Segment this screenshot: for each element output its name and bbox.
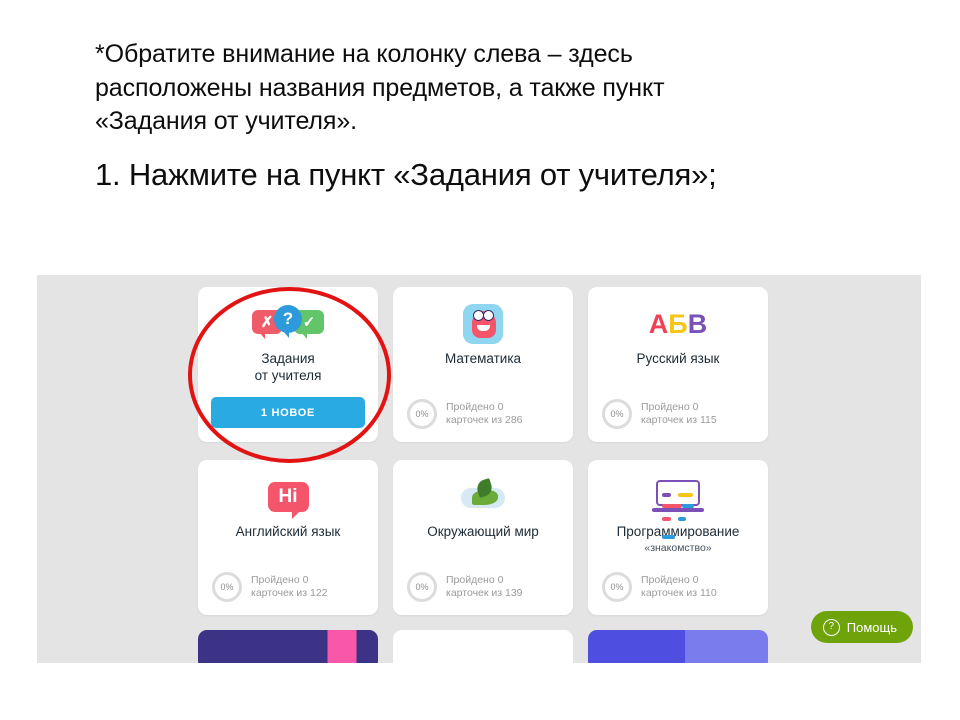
progress-percent: 0% — [610, 409, 623, 419]
card-stub-3[interactable] — [588, 630, 768, 663]
partial-card-row — [198, 630, 768, 663]
bird-cloud-icon — [393, 474, 573, 520]
progress-ring: 0% — [602, 572, 632, 602]
card-title: Окружающий мир — [393, 524, 573, 541]
card-title: Математика — [393, 351, 573, 368]
progress-percent: 0% — [220, 582, 233, 592]
progress-text: Пройдено 0 карточек из 286 — [446, 401, 523, 427]
progress-line-1: Пройдено 0 — [251, 574, 328, 587]
progress-line-2: карточек из 139 — [446, 587, 523, 600]
progress-percent: 0% — [610, 582, 623, 592]
question-mark-icon: ? — [823, 619, 840, 636]
progress-line-1: Пройдено 0 — [641, 401, 717, 414]
abv-letters-icon: АБВ — [588, 301, 768, 347]
card-teacher-tasks[interactable]: ✗ ✓ ? Задания от учителя 1 НОВОЕ — [198, 287, 378, 442]
progress-row: 0% Пройдено 0 карточек из 286 — [407, 399, 561, 429]
embedded-screenshot: ✗ ✓ ? Задания от учителя 1 НОВОЕ Математ… — [37, 275, 921, 663]
hi-bubble-icon: Hi — [198, 474, 378, 520]
card-world-around[interactable]: Окружающий мир 0% Пройдено 0 карточек из… — [393, 460, 573, 615]
progress-line-2: карточек из 286 — [446, 414, 523, 427]
progress-line-1: Пройдено 0 — [641, 574, 717, 587]
card-title-line2: от учителя — [198, 368, 378, 385]
progress-row: 0% Пройдено 0 карточек из 110 — [602, 572, 756, 602]
laptop-icon — [588, 474, 768, 520]
progress-row: 0% Пройдено 0 карточек из 115 — [602, 399, 756, 429]
progress-percent: 0% — [415, 582, 428, 592]
progress-text: Пройдено 0 карточек из 115 — [641, 401, 717, 427]
progress-text: Пройдено 0 карточек из 139 — [446, 574, 523, 600]
progress-ring: 0% — [407, 399, 437, 429]
card-title: Английский язык — [198, 524, 378, 541]
progress-line-2: карточек из 122 — [251, 587, 328, 600]
progress-ring: 0% — [407, 572, 437, 602]
progress-ring: 0% — [602, 399, 632, 429]
card-programming[interactable]: Программирование «знакомство» 0% Пройден… — [588, 460, 768, 615]
bubble-question-icon: ? — [274, 305, 302, 333]
question-bubbles-icon: ✗ ✓ ? — [198, 301, 378, 347]
progress-ring: 0% — [212, 572, 242, 602]
progress-row: 0% Пройдено 0 карточек из 122 — [212, 572, 366, 602]
progress-line-2: карточек из 115 — [641, 414, 717, 427]
dinosaur-icon — [393, 301, 573, 347]
progress-row: 0% Пройдено 0 карточек из 139 — [407, 572, 561, 602]
card-english-language[interactable]: Hi Английский язык 0% Пройдено 0 карточе… — [198, 460, 378, 615]
progress-percent: 0% — [415, 409, 428, 419]
card-mathematics[interactable]: Математика 0% Пройдено 0 карточек из 286 — [393, 287, 573, 442]
note-paragraph: *Обратите внимание на колонку слева – зд… — [95, 38, 775, 139]
step-paragraph: 1. Нажмите на пункт «Задания от учителя»… — [95, 153, 775, 198]
help-button[interactable]: ? Помощь — [811, 611, 913, 643]
help-label: Помощь — [847, 620, 897, 635]
new-tasks-button[interactable]: 1 НОВОЕ — [211, 397, 365, 428]
subject-card-grid: ✗ ✓ ? Задания от учителя 1 НОВОЕ Математ… — [198, 287, 768, 615]
progress-text: Пройдено 0 карточек из 122 — [251, 574, 328, 600]
card-title: Русский язык — [588, 351, 768, 368]
card-stub-2[interactable] — [393, 630, 573, 663]
progress-line-1: Пройдено 0 — [446, 401, 523, 414]
progress-line-2: карточек из 110 — [641, 587, 717, 600]
progress-line-1: Пройдено 0 — [446, 574, 523, 587]
card-title: Задания — [198, 351, 378, 368]
card-russian-language[interactable]: АБВ Русский язык 0% Пройдено 0 карточек … — [588, 287, 768, 442]
slide-text-block: *Обратите внимание на колонку слева – зд… — [95, 38, 775, 197]
card-stub-1[interactable] — [198, 630, 378, 663]
progress-text: Пройдено 0 карточек из 110 — [641, 574, 717, 600]
